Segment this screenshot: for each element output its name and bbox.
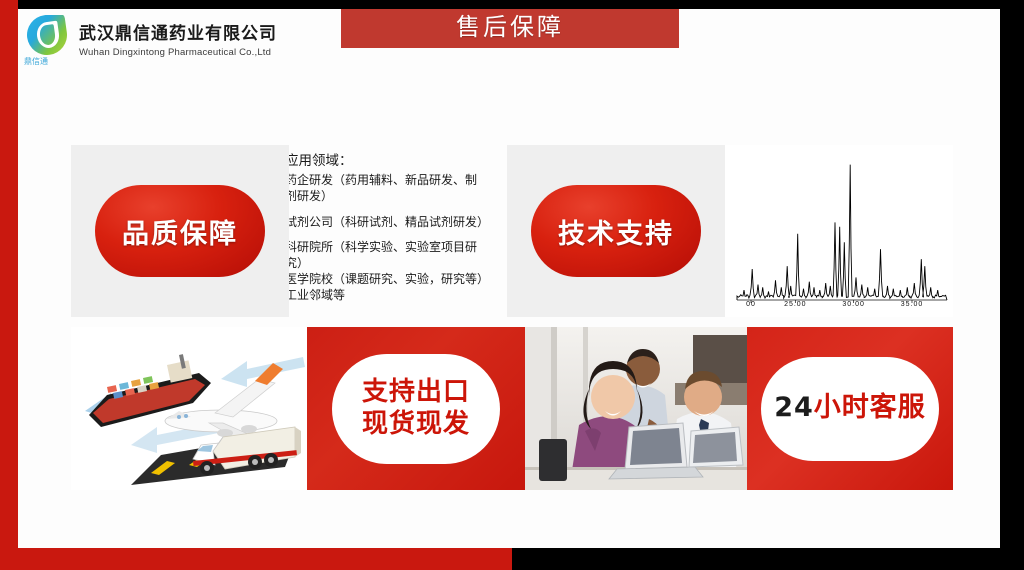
chromatogram-tick-label: 30.00 (842, 301, 865, 308)
application-field-line: 科研院所（科学实验、实验室项目研 (289, 239, 507, 255)
content-grid: 品质保障 应用领域： 药企研发（药用辅料、新品研发、制剂研发）试剂公司（科研试剂… (71, 145, 953, 490)
cell-export-support: 支持出口 现货现发 (307, 327, 525, 490)
chromatogram-tick-label: 25.00 (784, 301, 807, 308)
badge-export-line2: 现货现发 (362, 409, 470, 441)
chromatogram-tick-label: 00 (746, 301, 756, 308)
cell-team-photo (525, 327, 747, 490)
cell-quality-assurance: 品质保障 (71, 145, 289, 317)
badge-tech-label: 技术支持 (558, 212, 674, 251)
badge-24h-service[interactable]: 24小时客服 (761, 357, 939, 461)
cell-application-fields: 应用领域： 药企研发（药用辅料、新品研发、制剂研发）试剂公司（科研试剂、精品试剂… (289, 145, 507, 317)
company-name-en: Wuhan Dingxintong Pharmaceutical Co.,Ltd (79, 47, 277, 58)
cell-24h-service: 24小时客服 (747, 327, 953, 490)
application-fields-heading: 应用领域： (289, 151, 507, 171)
slide-canvas: 售后保障 鼎信通 武汉鼎信通药业有限公司 Wuhan Dingxintong P… (18, 9, 1000, 548)
badge-service-text: 24小时客服 (774, 392, 926, 425)
cell-technical-support: 技术支持 (507, 145, 725, 317)
company-name-cn: 武汉鼎信通药业有限公司 (79, 24, 277, 45)
badge-quality-assurance[interactable]: 品质保障 (95, 185, 265, 277)
company-logo-icon: 鼎信通 (24, 15, 70, 67)
badge-export-support[interactable]: 支持出口 现货现发 (332, 354, 500, 464)
frame-border-left-red (0, 0, 18, 570)
page-title: 售后保障 (456, 9, 564, 42)
badge-service-number: 24 (774, 392, 814, 423)
badge-export-line1: 支持出口 (362, 377, 470, 409)
brand-block: 鼎信通 武汉鼎信通药业有限公司 Wuhan Dingxintong Pharma… (18, 15, 277, 67)
badge-service-label: 小时客服 (814, 392, 926, 423)
chromatogram-chart: 0025.0030.0035.00 (731, 149, 953, 315)
application-fields-text: 应用领域： 药企研发（药用辅料、新品研发、制剂研发）试剂公司（科研试剂、精品试剂… (289, 151, 507, 304)
frame-border-right-black (1000, 0, 1024, 570)
chromatogram-svg (731, 149, 953, 315)
field-spacer (289, 205, 507, 214)
badge-quality-label: 品质保障 (122, 212, 238, 251)
field-spacer (289, 230, 507, 239)
logo-caption: 鼎信通 (24, 56, 48, 67)
logistics-illustration (71, 327, 307, 490)
cell-logistics-image (71, 327, 307, 490)
application-field-line: 医学院校（课题研究、实验，研究等） (289, 271, 507, 287)
application-field-line: 工业邻域等 (289, 287, 507, 303)
cell-chromatogram: 0025.0030.0035.00 (725, 145, 953, 317)
badge-technical-support[interactable]: 技术支持 (531, 185, 701, 277)
frame-border-bottom-red (0, 548, 512, 570)
frame-border-bottom-black (512, 548, 1024, 570)
business-team-photo (525, 327, 747, 490)
application-fields-list: 药企研发（药用辅料、新品研发、制剂研发）试剂公司（科研试剂、精品试剂研发）科研院… (289, 172, 507, 303)
application-field-line: 究） (289, 255, 507, 271)
chromatogram-tick-label: 35.00 (901, 301, 924, 308)
application-field-line: 试剂公司（科研试剂、精品试剂研发） (289, 214, 507, 230)
application-field-line: 剂研发） (289, 188, 507, 204)
chromatogram-axis-ticks: 0025.0030.0035.00 (731, 301, 953, 313)
application-field-line: 药企研发（药用辅料、新品研发、制 (289, 172, 507, 188)
header-banner: 售后保障 (341, 9, 679, 48)
